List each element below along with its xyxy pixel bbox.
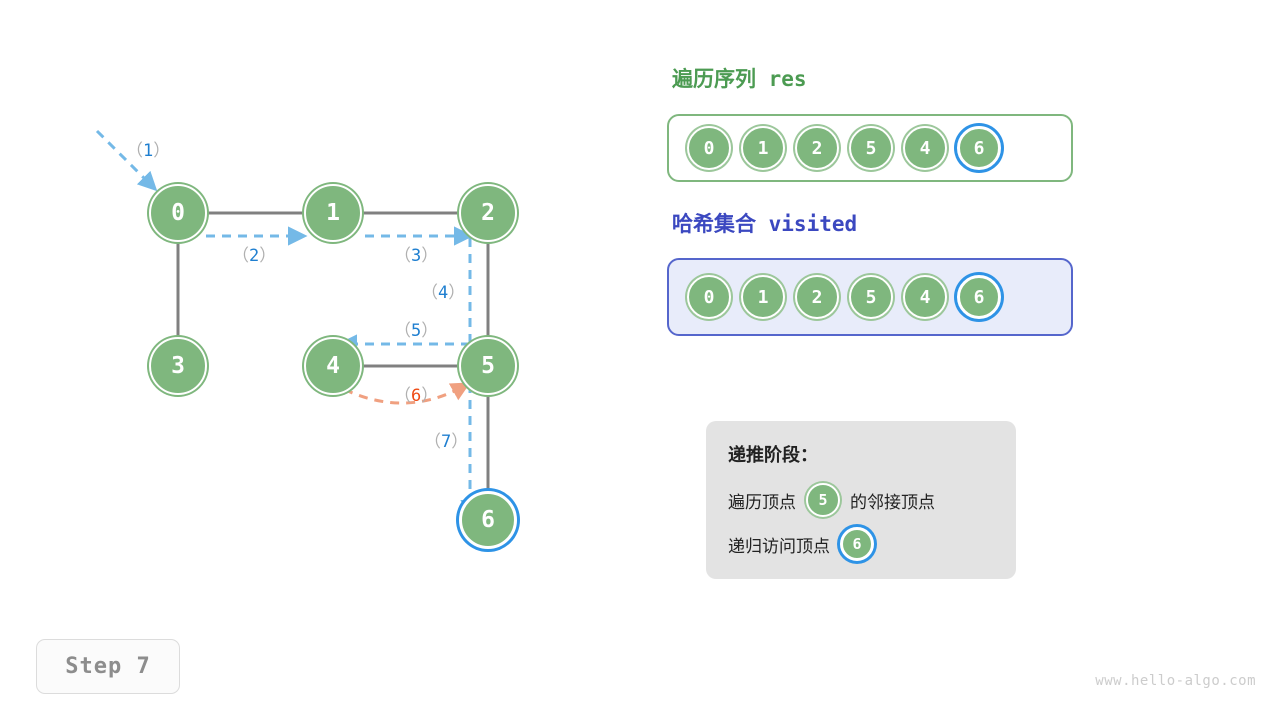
step-order-label-3: （3） — [394, 241, 438, 266]
visited-cell-label: 5 — [866, 287, 877, 308]
step-order-label-5: （5） — [394, 316, 438, 341]
res-title: 遍历序列 res — [672, 63, 807, 93]
step-order-num-2: 2 — [249, 246, 259, 266]
res-cell[interactable]: 5 — [849, 126, 893, 170]
res-cell-label: 5 — [866, 138, 877, 159]
res-cell-label: 6 — [974, 138, 985, 159]
watermark: www.hello-algo.com — [1095, 673, 1256, 689]
visited-cell[interactable]: 5 — [849, 275, 893, 319]
step-order-label-1: （1） — [126, 136, 170, 161]
res-cell-label: 4 — [920, 138, 931, 159]
res-cell[interactable]: 2 — [795, 126, 839, 170]
info-panel-line-1: 遍历顶点 5 的邻接顶点 — [728, 483, 994, 517]
visited-cell-label: 1 — [758, 287, 769, 308]
graph-node-4[interactable]: 4 — [304, 337, 362, 395]
step-order-num-5: 5 — [411, 321, 421, 341]
info-panel-heading: 递推阶段： — [728, 441, 994, 467]
step-order-num-1: 1 — [143, 141, 153, 161]
info-inline-node-5-label: 5 — [818, 491, 827, 509]
visited-title: 哈希集合 visited — [672, 208, 857, 238]
graph-node-3[interactable]: 3 — [149, 337, 207, 395]
res-cell[interactable]: 4 — [903, 126, 947, 170]
step-order-label-7: （7） — [424, 427, 468, 452]
info-line-1-prefix: 遍历顶点 — [728, 488, 796, 513]
graph-node-2[interactable]: 2 — [459, 184, 517, 242]
info-line-1-suffix: 的邻接顶点 — [850, 488, 935, 513]
info-line-2-prefix: 递归访问顶点 — [728, 532, 830, 557]
graph-node-4-label: 4 — [326, 353, 340, 379]
info-panel-line-2: 递归访问顶点 6 — [728, 527, 994, 561]
step-order-num-7: 7 — [441, 432, 451, 452]
visited-cell-label: 0 — [704, 287, 715, 308]
graph-panel: 0 1 2 3 4 5 6 （1） （2） （3） （4） （5） （6） （7… — [0, 0, 640, 720]
step-order-num-3: 3 — [411, 246, 421, 266]
info-inline-node-5: 5 — [806, 483, 840, 517]
res-cell-label: 1 — [758, 138, 769, 159]
graph-node-5[interactable]: 5 — [459, 337, 517, 395]
graph-node-6-label: 6 — [481, 507, 495, 533]
info-inline-node-6-label: 6 — [852, 535, 861, 553]
visited-cell[interactable]: 4 — [903, 275, 947, 319]
res-cell[interactable]: 0 — [687, 126, 731, 170]
graph-node-5-label: 5 — [481, 353, 495, 379]
graph-node-2-label: 2 — [481, 200, 495, 226]
visited-cell[interactable]: 2 — [795, 275, 839, 319]
step-order-num-4: 4 — [438, 283, 448, 303]
graph-node-1-label: 1 — [326, 200, 340, 226]
info-panel: 递推阶段： 遍历顶点 5 的邻接顶点 递归访问顶点 6 — [706, 421, 1016, 579]
step-order-label-4: （4） — [421, 278, 465, 303]
res-cell-label: 2 — [812, 138, 823, 159]
res-container: 0 1 2 5 4 6 — [667, 114, 1073, 182]
visited-cell-highlighted[interactable]: 6 — [957, 275, 1001, 319]
res-cell-label: 0 — [704, 138, 715, 159]
visited-container: 0 1 2 5 4 6 — [667, 258, 1073, 336]
step-order-label-2: （2） — [232, 241, 276, 266]
res-cell-highlighted[interactable]: 6 — [957, 126, 1001, 170]
graph-node-0-label: 0 — [171, 200, 185, 226]
graph-node-1[interactable]: 1 — [304, 184, 362, 242]
step-badge: Step 7 — [36, 639, 180, 694]
visited-cell-label: 4 — [920, 287, 931, 308]
visited-cell-label: 2 — [812, 287, 823, 308]
visited-cell[interactable]: 0 — [687, 275, 731, 319]
graph-node-3-label: 3 — [171, 353, 185, 379]
graph-node-6[interactable]: 6 — [459, 491, 517, 549]
res-cell[interactable]: 1 — [741, 126, 785, 170]
graph-node-0[interactable]: 0 — [149, 184, 207, 242]
step-order-label-6: （6） — [394, 381, 438, 406]
step-order-num-6: 6 — [411, 386, 421, 406]
visited-cell-label: 6 — [974, 287, 985, 308]
visited-cell[interactable]: 1 — [741, 275, 785, 319]
info-inline-node-6: 6 — [840, 527, 874, 561]
right-panel: 遍历序列 res 0 1 2 5 4 6 哈希集合 visited 0 1 2 … — [640, 0, 1280, 720]
